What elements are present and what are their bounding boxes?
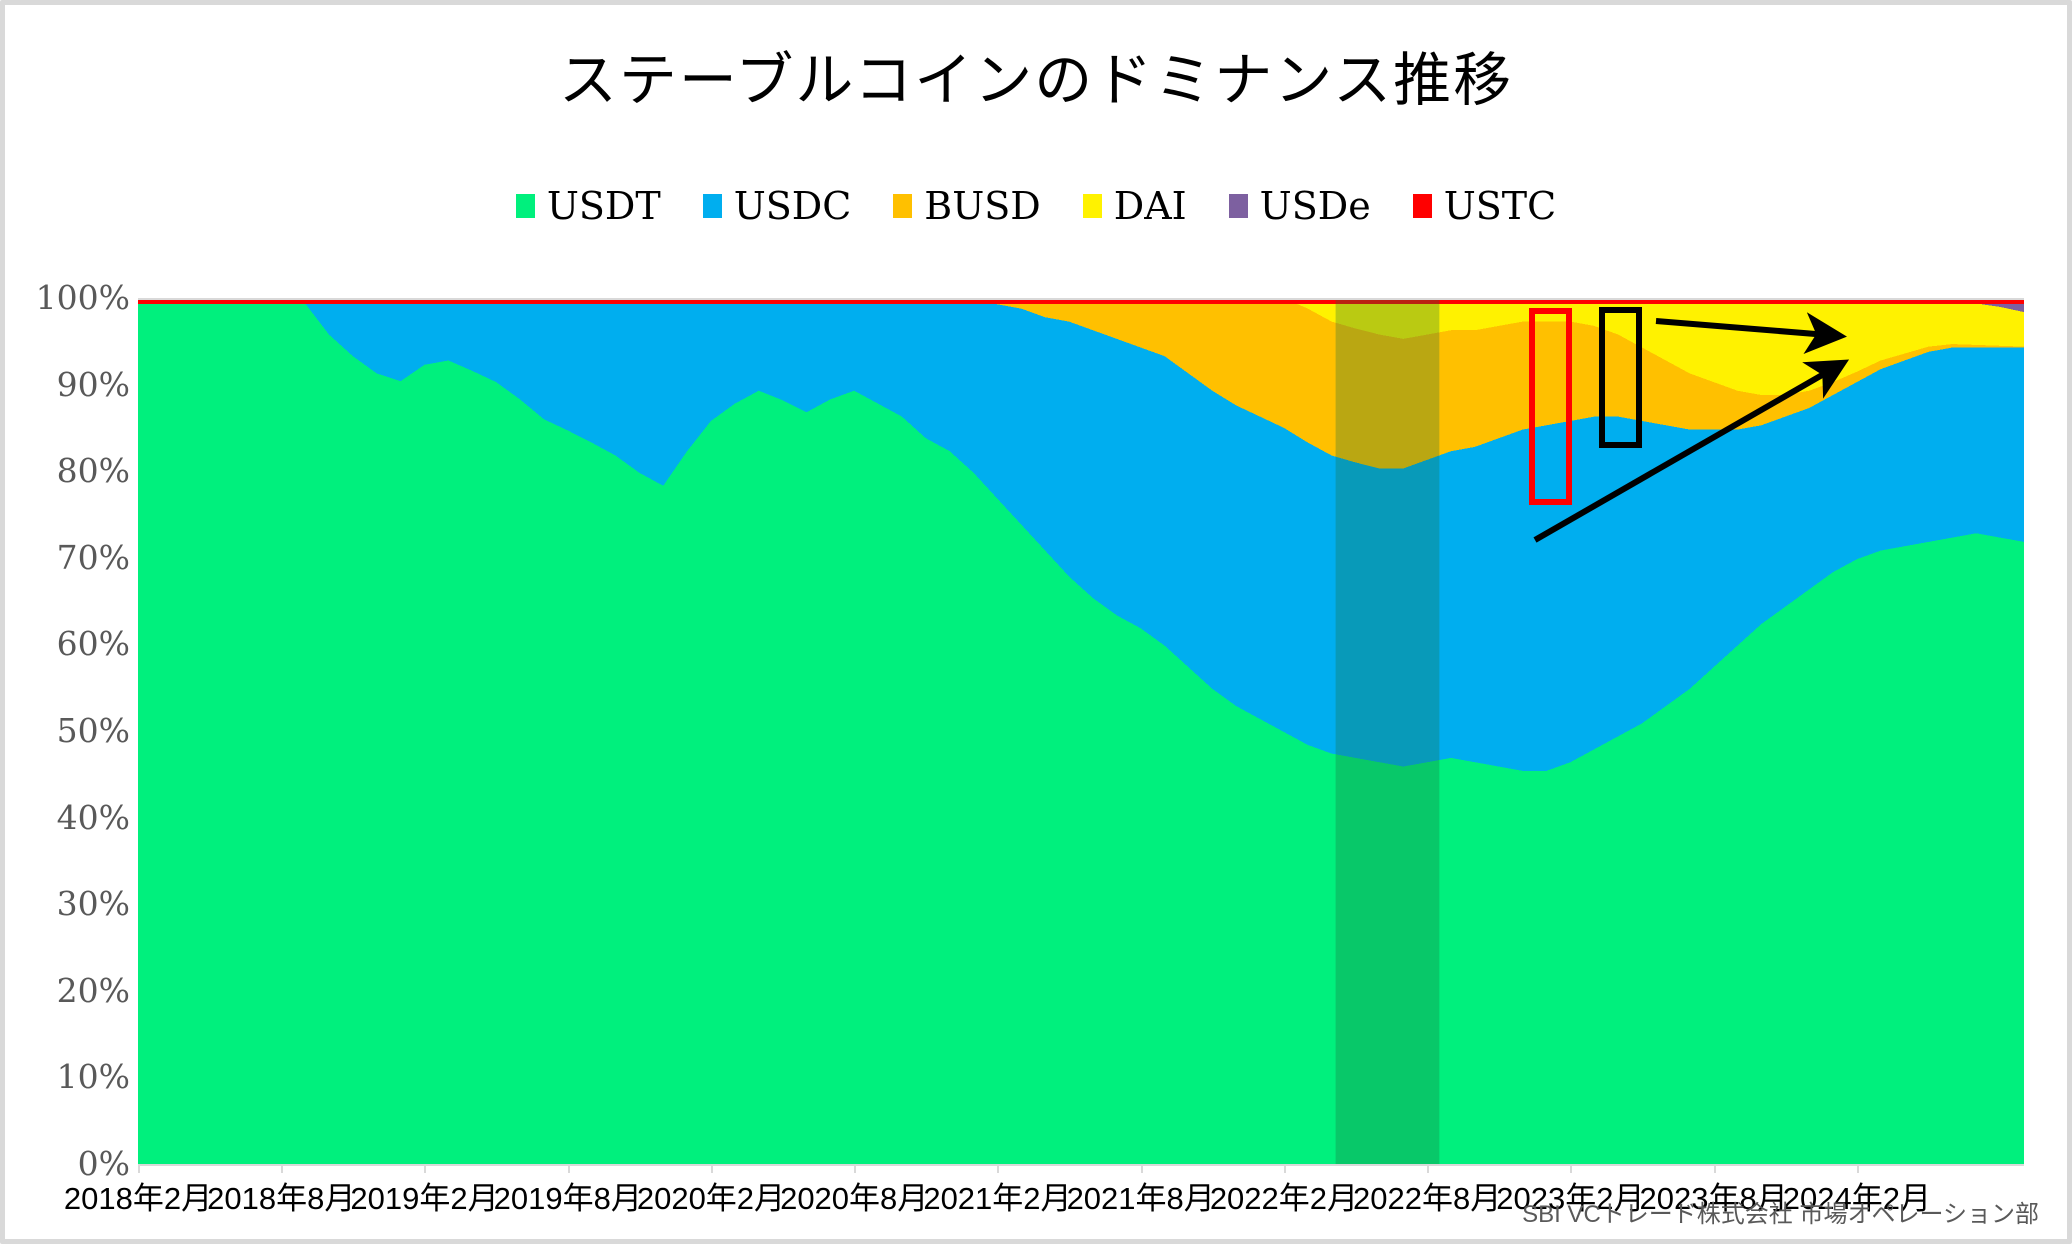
- x-axis-tick-label: 2018年2月: [64, 1173, 212, 1218]
- x-axis-tick-label: 2021年2月: [923, 1173, 1071, 1218]
- legend-item-ustc[interactable]: USTC: [1413, 187, 1556, 225]
- x-axis-tick-label: 2020年2月: [637, 1173, 785, 1218]
- x-axis-tick-mark: [1857, 1164, 1859, 1173]
- source-note: SBI VCトレード株式会社 市場オペレーション部: [1522, 1194, 2039, 1229]
- x-axis-tick-mark: [424, 1164, 426, 1173]
- x-axis-tick-mark: [854, 1164, 856, 1173]
- legend-swatch-usdt: [516, 194, 535, 218]
- x-axis-line: [138, 1164, 2024, 1166]
- legend-item-usde[interactable]: USDe: [1229, 187, 1371, 225]
- legend-swatch-usdc: [703, 194, 722, 218]
- x-axis-tick-mark: [1570, 1164, 1572, 1173]
- y-axis-tick-label: 90%: [12, 368, 130, 401]
- y-axis-tick-label: 10%: [12, 1060, 130, 1093]
- chart-canvas: ステーブルコインのドミナンス推移 USDTUSDCBUSDDAIUSDeUSTC…: [0, 0, 2072, 1244]
- x-axis-tick-label: 2018年8月: [207, 1173, 355, 1218]
- x-axis-tick-mark: [281, 1164, 283, 1173]
- legend-label: USDT: [547, 187, 661, 225]
- chart-legend: USDTUSDCBUSDDAIUSDeUSTC: [5, 187, 2067, 225]
- y-axis-tick-label: 40%: [12, 801, 130, 834]
- legend-label: USDe: [1260, 187, 1371, 225]
- legend-item-dai[interactable]: DAI: [1083, 187, 1187, 225]
- y-axis-tick-label: 70%: [12, 541, 130, 574]
- y-axis-tick-label: 100%: [12, 281, 130, 314]
- ustc-residual-cap: [138, 300, 2024, 304]
- y-axis-tick-label: 30%: [12, 887, 130, 920]
- y-axis-tick-label: 80%: [12, 454, 130, 487]
- x-axis-tick-label: 2019年2月: [350, 1173, 498, 1218]
- stacked-area-svg: [138, 300, 2024, 1164]
- x-axis-tick-mark: [1141, 1164, 1143, 1173]
- legend-label: USDC: [734, 187, 852, 225]
- legend-swatch-usde: [1229, 194, 1248, 218]
- y-axis: 100%90%80%70%60%50%40%30%20%10%0%: [5, 5, 130, 1249]
- legend-item-usdc[interactable]: USDC: [703, 187, 852, 225]
- y-axis-tick-label: 60%: [12, 627, 130, 660]
- x-axis-tick-mark: [1427, 1164, 1429, 1173]
- legend-swatch-busd: [893, 194, 912, 218]
- x-axis-tick-label: 2022年8月: [1353, 1173, 1501, 1218]
- x-axis-tick-label: 2021年8月: [1067, 1173, 1215, 1218]
- legend-swatch-dai: [1083, 194, 1102, 218]
- x-axis-tick-label: 2022年2月: [1210, 1173, 1358, 1218]
- x-axis-tick-mark: [997, 1164, 999, 1173]
- legend-label: DAI: [1114, 187, 1187, 225]
- page-title: ステーブルコインのドミナンス推移: [5, 33, 2067, 117]
- legend-item-usdt[interactable]: USDT: [516, 187, 661, 225]
- legend-swatch-ustc: [1413, 194, 1432, 218]
- x-axis-tick-mark: [568, 1164, 570, 1173]
- legend-item-busd[interactable]: BUSD: [893, 187, 1040, 225]
- annotation-terra-collapse-band: [1336, 300, 1440, 1164]
- y-axis-tick-label: 20%: [12, 974, 130, 1007]
- legend-label: BUSD: [924, 187, 1040, 225]
- y-axis-tick-label: 50%: [12, 714, 130, 747]
- x-axis-tick-mark: [1284, 1164, 1286, 1173]
- x-axis-tick-label: 2019年8月: [494, 1173, 642, 1218]
- x-axis-tick-mark: [138, 1164, 140, 1173]
- x-axis-tick-mark: [1714, 1164, 1716, 1173]
- x-axis-tick-label: 2020年8月: [780, 1173, 928, 1218]
- plot-area: [138, 298, 2024, 1164]
- x-axis-tick-mark: [711, 1164, 713, 1173]
- legend-label: USTC: [1444, 187, 1556, 225]
